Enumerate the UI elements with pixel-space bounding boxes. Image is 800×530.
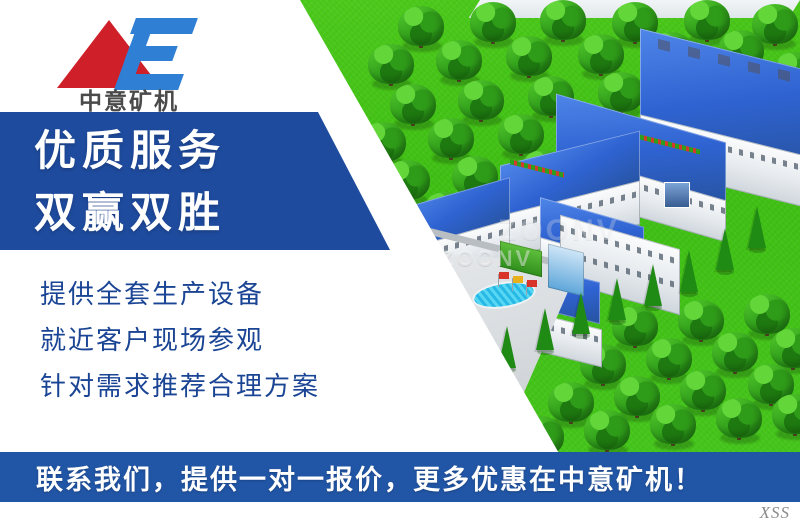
conifer-tree [644, 264, 662, 310]
conifer-body [572, 292, 590, 334]
conifer-body [716, 228, 734, 270]
headline-line-2: 双赢双胜 [34, 182, 334, 244]
cta-bar[interactable]: 联系我们，提供一对一报价，更多优惠在中意矿机！ [0, 452, 800, 502]
photo-watermark-secondary: ZOONV [498, 214, 620, 248]
cta-text: 联系我们，提供一对一报价，更多优惠在中意矿机！ [36, 458, 703, 497]
company-logo[interactable]: 中意矿机 [55, 8, 195, 108]
conifer-tree [748, 206, 766, 252]
photo-watermark: ZOONV [440, 246, 533, 272]
tree-canopy [578, 34, 624, 74]
flag-red [527, 280, 537, 287]
flag-red [499, 272, 509, 279]
tree [716, 398, 762, 442]
conifer-body [536, 308, 554, 350]
tree-canopy [772, 394, 800, 434]
benefit-item-1: 提供全套生产设备 [40, 272, 320, 318]
tree-canopy [436, 40, 482, 80]
tree-canopy [770, 328, 800, 368]
tree [436, 40, 482, 84]
conifer-tree [536, 308, 554, 354]
letter-e-middle-bar-icon [124, 46, 177, 61]
tree [506, 36, 552, 80]
conifer-tree [608, 278, 626, 324]
tree-canopy [368, 44, 414, 84]
roller-door [664, 182, 690, 208]
conifer-body [608, 278, 626, 320]
tree [650, 404, 696, 448]
headline-text: 优质服务 双赢双胜 [34, 120, 334, 244]
tree-canopy [584, 410, 630, 450]
tree [368, 44, 414, 88]
tree-canopy [428, 118, 474, 158]
logo-company-name: 中意矿机 [63, 82, 195, 116]
benefit-item-2: 就近客户现场参观 [40, 318, 320, 364]
tree [584, 410, 630, 454]
billboard-blue [548, 244, 584, 297]
footer-watermark: XSS [760, 503, 790, 523]
conifer-body [644, 264, 662, 306]
promo-poster: ZOONV ZOONV 中意矿机 优质服务 双赢双胜 提供全套生产设备 就近客户… [0, 0, 800, 530]
tree-canopy [716, 398, 762, 438]
conifer-tree [716, 228, 734, 274]
conifer-body [748, 206, 766, 248]
flag-yellow [513, 276, 523, 283]
tree-canopy [498, 114, 544, 154]
conifer-tree [680, 250, 698, 296]
benefit-item-3: 针对需求推荐合理方案 [40, 364, 320, 410]
conifer-body [680, 250, 698, 292]
tree-canopy [650, 404, 696, 444]
headline-line-1: 优质服务 [34, 120, 334, 182]
letter-e-top-bar-icon [130, 18, 198, 34]
tree-canopy [506, 36, 552, 76]
tree [772, 394, 800, 438]
conifer-tree [572, 292, 590, 338]
benefit-list: 提供全套生产设备 就近客户现场参观 针对需求推荐合理方案 [40, 272, 320, 410]
